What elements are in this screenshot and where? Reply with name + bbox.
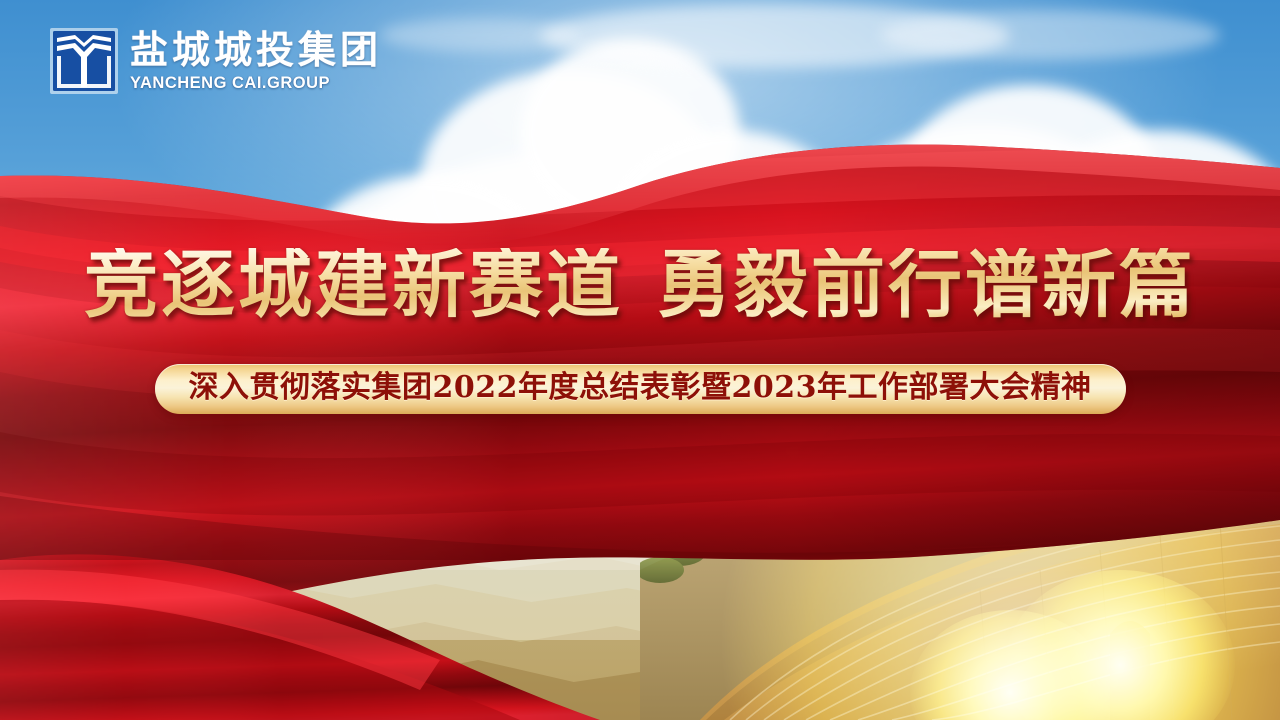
subtitle-text: 深入贯彻落实集团2022年度总结表彰暨2023年工作部署大会精神 <box>189 372 1092 404</box>
banner-poster: 盐城城投集团 YANCHENG CAI.GROUP 竞逐城建新赛道勇毅前行谱新篇… <box>0 0 1280 720</box>
subtitle-block: 深入贯彻落实集团2022年度总结表彰暨2023年工作部署大会精神 <box>0 364 1280 414</box>
cube-y-logo-icon <box>48 26 120 96</box>
brand-name-cn: 盐城城投集团 <box>130 31 382 69</box>
subtitle-pill: 深入贯彻落实集团2022年度总结表彰暨2023年工作部署大会精神 <box>155 364 1126 414</box>
brand-text: 盐城城投集团 YANCHENG CAI.GROUP <box>130 31 382 92</box>
brand-name-en: YANCHENG CAI.GROUP <box>130 75 382 92</box>
red-silk-ribbon <box>0 0 1280 720</box>
brand-logo[interactable]: 盐城城投集团 YANCHENG CAI.GROUP <box>48 26 382 96</box>
